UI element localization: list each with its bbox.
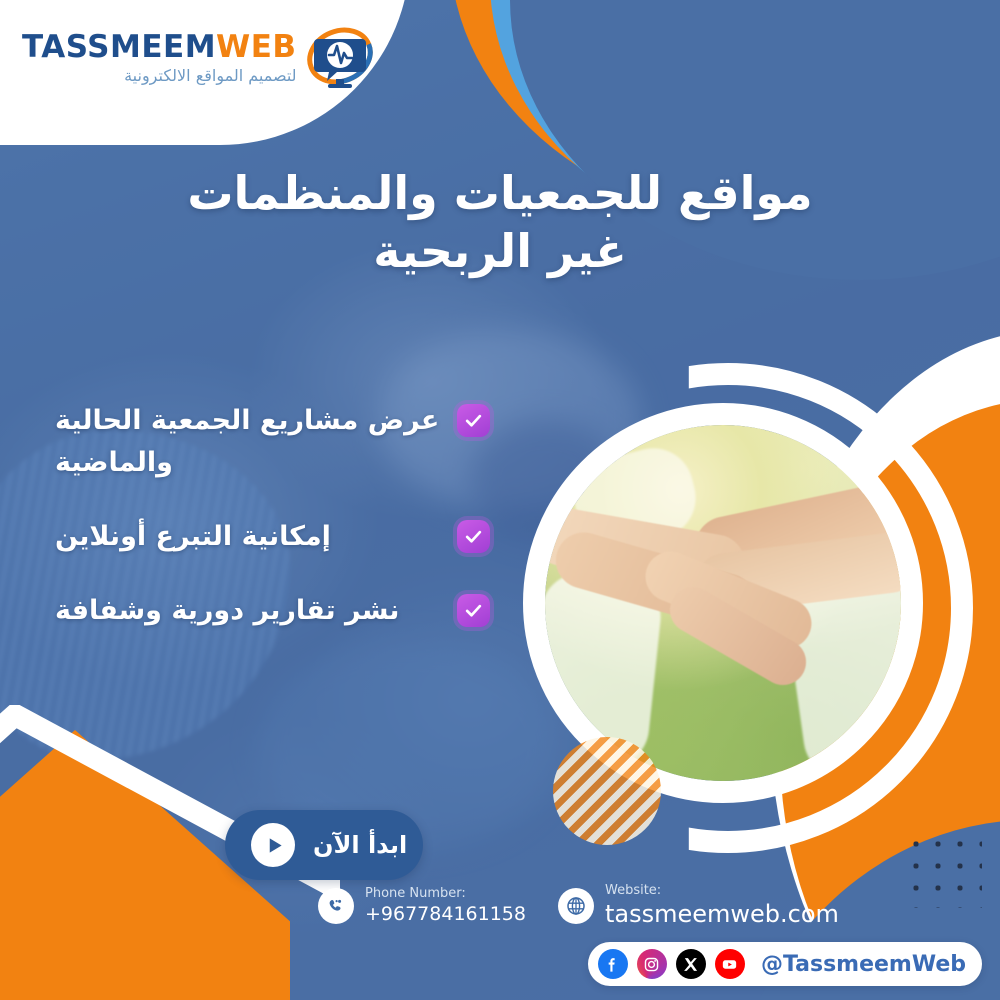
- website-caption: Website:: [605, 884, 839, 899]
- feature-text: عرض مشاريع الجمعية الحالية والماضية: [55, 400, 443, 484]
- feature-text: إمكانية التبرع أونلاين: [55, 516, 443, 558]
- phone-value: +967784161158: [365, 904, 526, 926]
- logo-word-accent: WEB: [216, 29, 297, 65]
- list-item: عرض مشاريع الجمعية الحالية والماضية: [55, 400, 490, 484]
- list-item: نشر تقارير دورية وشفافة: [55, 590, 490, 632]
- check-badge-icon: [457, 404, 490, 437]
- check-badge-icon: [457, 520, 490, 553]
- monitor-pulse-icon: [307, 26, 373, 90]
- website-value: tassmeemweb.com: [605, 901, 839, 929]
- social-handle[interactable]: @TassmeemWeb: [761, 952, 966, 977]
- instagram-icon[interactable]: [637, 949, 667, 979]
- page-title: مواقع للجمعيات والمنظمات غير الربحية: [0, 165, 1000, 280]
- start-now-button[interactable]: ابدأ الآن: [225, 810, 423, 880]
- logo-wordmark: TASSMEEMWEB: [22, 32, 297, 63]
- contact-website[interactable]: Website: tassmeemweb.com: [558, 884, 839, 929]
- cta-label: ابدأ الآن: [313, 831, 407, 859]
- logo-word-primary: TASSMEEM: [22, 29, 216, 65]
- social-links-bar: @TassmeemWeb: [588, 942, 982, 986]
- contact-row: Phone Number: +967784161158 Website: tas…: [318, 884, 839, 929]
- play-circle-icon: [251, 823, 295, 867]
- feature-list: عرض مشاريع الجمعية الحالية والماضية إمكا…: [55, 400, 490, 663]
- phone-icon: [318, 888, 354, 924]
- feature-text: نشر تقارير دورية وشفافة: [55, 590, 443, 632]
- headline-line-1: مواقع للجمعيات والمنظمات: [187, 166, 812, 220]
- brand-logo[interactable]: TASSMEEMWEB لتصميم المواقع الالكترونية: [22, 26, 373, 90]
- social-media-poster: TASSMEEMWEB لتصميم المواقع الالكترونية م…: [0, 0, 1000, 1000]
- contact-phone[interactable]: Phone Number: +967784161158: [318, 887, 526, 926]
- list-item: إمكانية التبرع أونلاين: [55, 516, 490, 558]
- striped-circle-decoration: [553, 737, 661, 845]
- x-twitter-icon[interactable]: [676, 949, 706, 979]
- photo-composition: [505, 385, 1000, 885]
- headline-line-2: غير الربحية: [0, 223, 1000, 281]
- logo-tagline: لتصميم المواقع الالكترونية: [22, 68, 297, 84]
- check-badge-icon: [457, 594, 490, 627]
- youtube-icon[interactable]: [715, 949, 745, 979]
- globe-icon: [558, 888, 594, 924]
- facebook-icon[interactable]: [598, 949, 628, 979]
- phone-caption: Phone Number:: [365, 887, 526, 902]
- stacked-hands-photo: [545, 425, 901, 781]
